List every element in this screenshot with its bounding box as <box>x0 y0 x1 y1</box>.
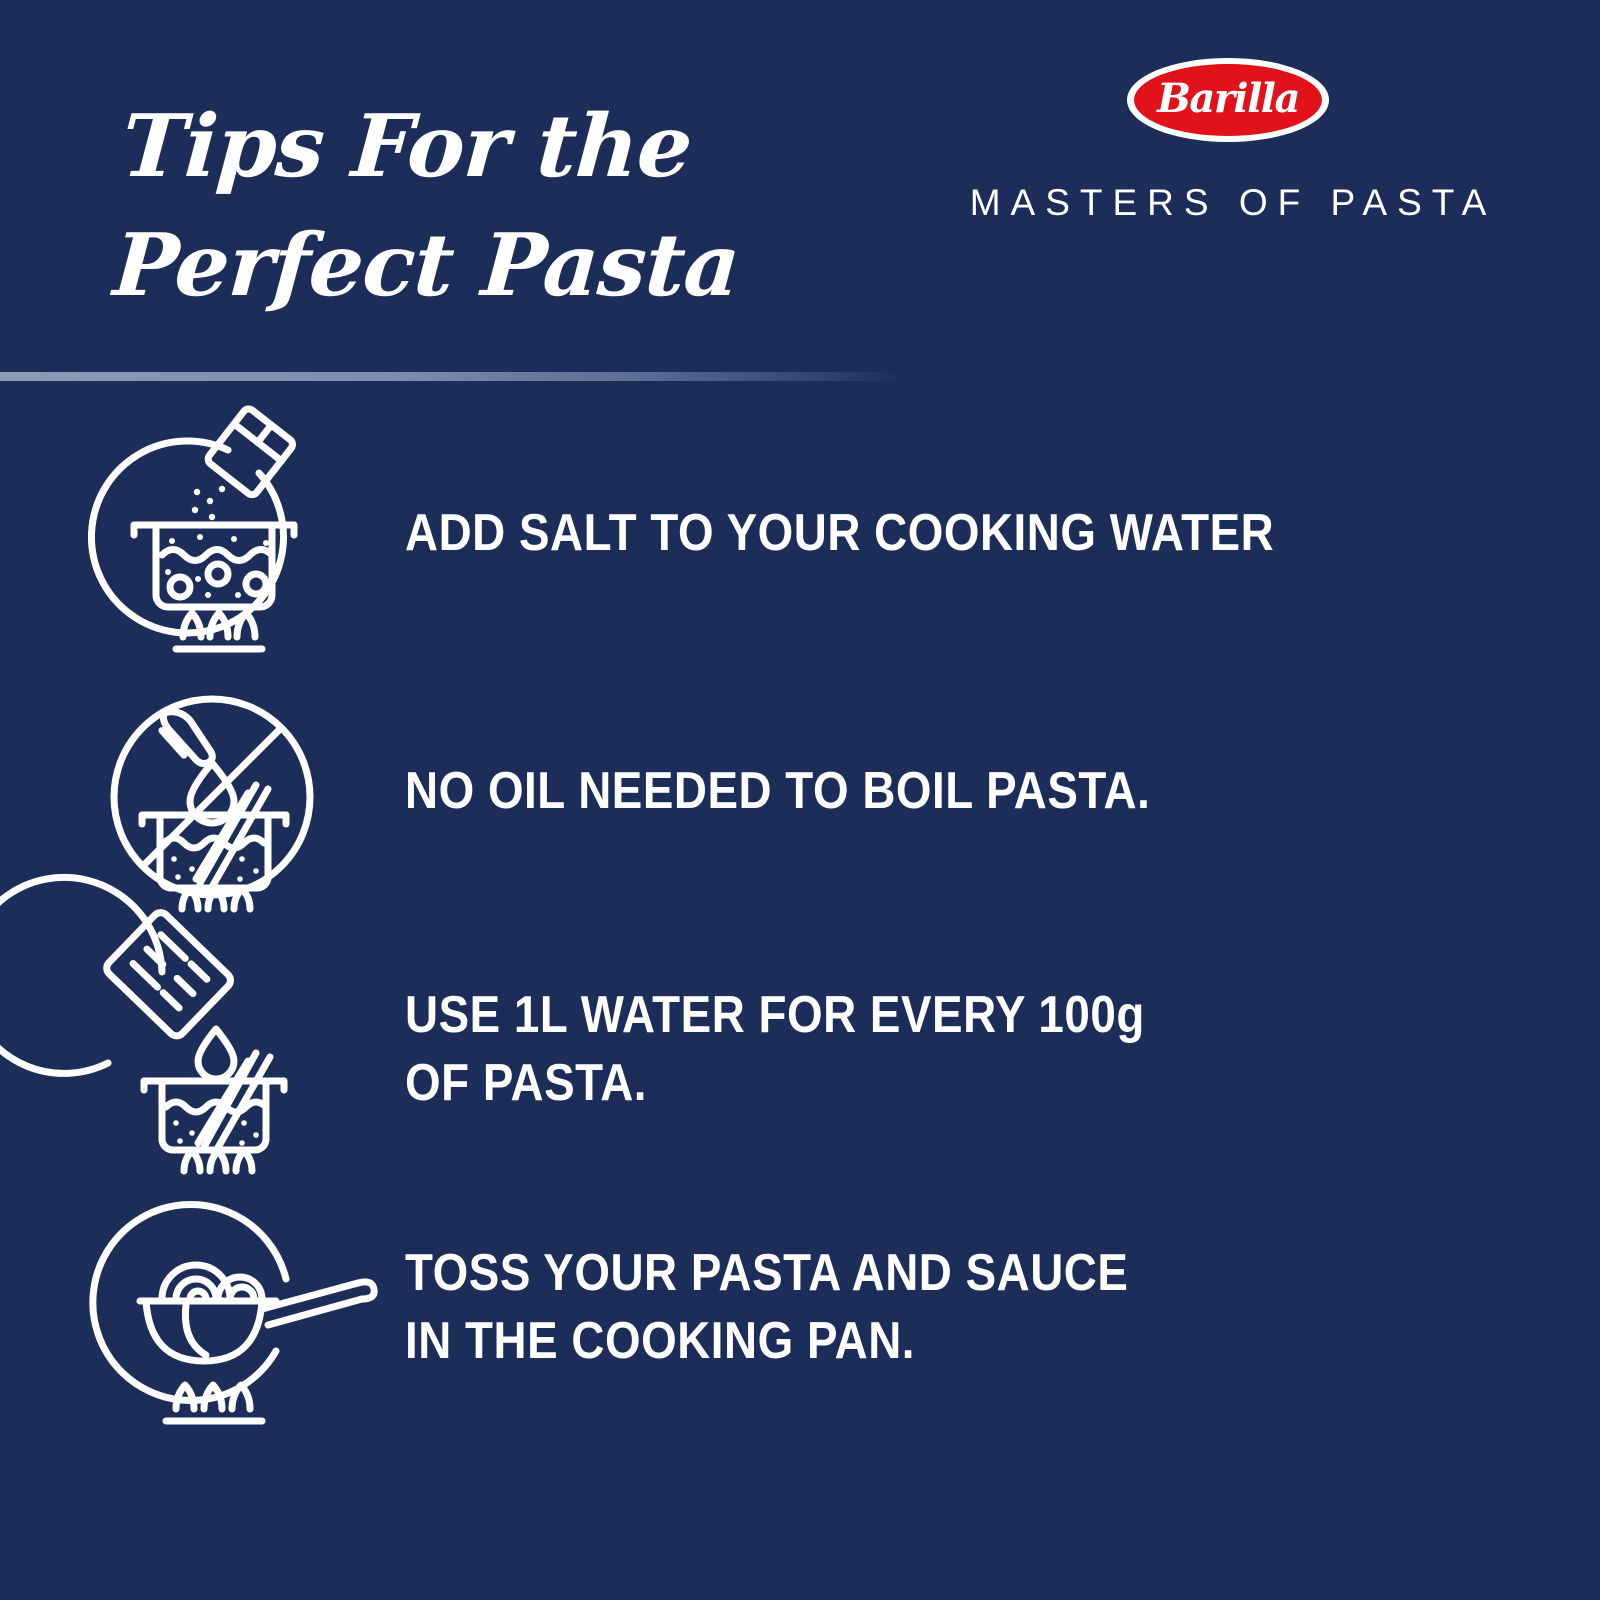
tip-row: NO OIL NEEDED TO BOIL PASTA. <box>0 663 1600 921</box>
barilla-logo-icon: Barilla <box>1127 58 1329 142</box>
tip-label: NO OIL NEEDED TO BOIL PASTA. <box>405 758 1150 826</box>
frying-pan-with-pasta-icon <box>100 1183 330 1433</box>
brand-tagline: MASTERS OF PASTA <box>958 182 1498 224</box>
tip-row: ADD SALT TO YOUR COOKING WATER <box>0 405 1600 663</box>
poster-canvas: Tips For the Perfect Pasta Barilla MASTE… <box>0 0 1600 1600</box>
measuring-jug-pouring-water-icon <box>100 925 330 1175</box>
tips-list: ADD SALT TO YOUR COOKING WATER <box>0 405 1600 1437</box>
tip-label: TOSS YOUR PASTA AND SAUCE IN THE COOKING… <box>405 1240 1128 1375</box>
pot-with-salt-icon <box>100 409 330 659</box>
tip-label: ADD SALT TO YOUR COOKING WATER <box>405 500 1274 568</box>
tip-label: USE 1L WATER FOR EVERY 100g OF PASTA. <box>405 982 1145 1117</box>
barilla-wordmark: Barilla <box>1157 79 1299 119</box>
no-oil-in-pot-icon <box>100 667 330 917</box>
page-title: Tips For the Perfect Pasta <box>110 88 887 325</box>
tip-row: TOSS YOUR PASTA AND SAUCE IN THE COOKING… <box>0 1179 1600 1437</box>
header-divider <box>0 372 905 381</box>
brand-logo-block: Barilla MASTERS OF PASTA <box>958 58 1498 224</box>
tip-row: USE 1L WATER FOR EVERY 100g OF PASTA. <box>0 921 1600 1179</box>
